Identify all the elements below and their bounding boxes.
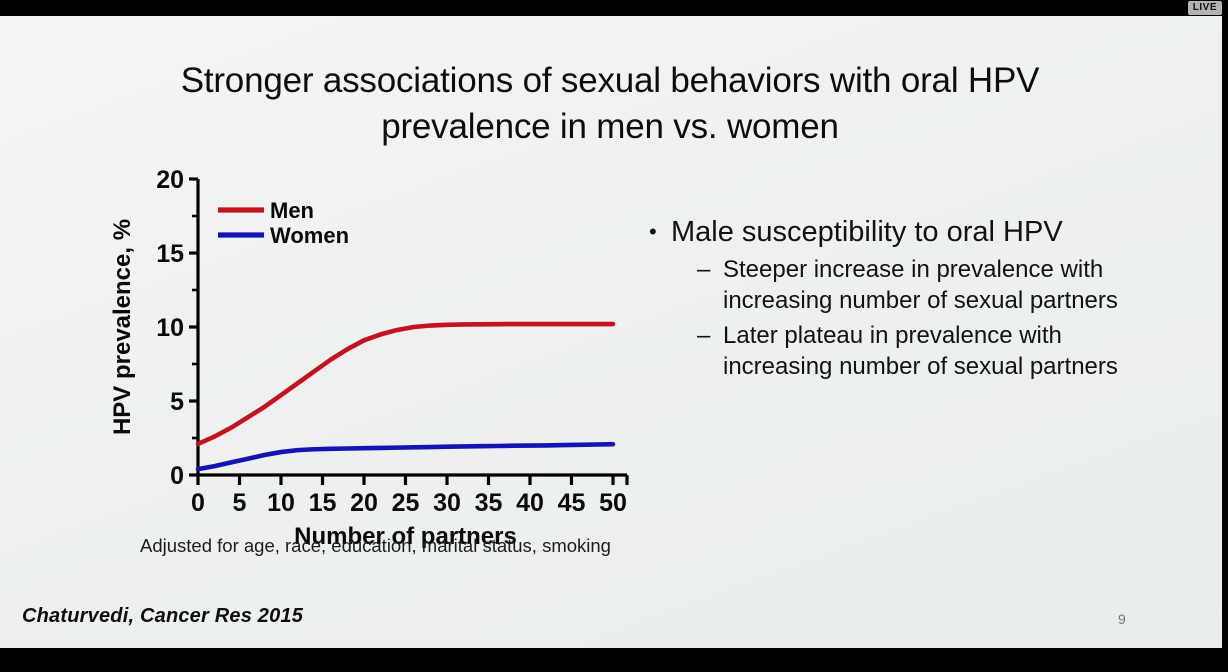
- y-tick-label: 20: [156, 166, 184, 194]
- y-tick-label: 5: [170, 388, 184, 416]
- letterbox-top: [0, 0, 1228, 16]
- chart-canvas: 0510152005101520253035404550Number of pa…: [110, 148, 670, 548]
- video-player-screen: LIVE Stronger associations of sexual beh…: [0, 0, 1228, 672]
- legend-label-men: Men: [270, 198, 314, 223]
- bullet-sub-1-line-1: Steeper increase in prevalence with: [723, 256, 1103, 283]
- x-tick-label: 50: [599, 489, 627, 517]
- page-number: 9: [1118, 611, 1126, 627]
- x-tick-label: 30: [433, 489, 461, 517]
- page-title: Stronger associations of sexual behavior…: [80, 58, 1140, 150]
- x-tick-label: 5: [233, 489, 247, 517]
- x-tick-label: 40: [516, 489, 544, 517]
- bullet-dot-icon: •: [649, 214, 657, 250]
- x-tick-label: 35: [475, 489, 503, 517]
- bullet-sub-2-line-2: increasing number of sexual partners: [723, 351, 1205, 382]
- letterbox-bottom: [0, 648, 1228, 672]
- bullet-dash-icon: –: [697, 320, 710, 351]
- bullet-sub-2-line-1: Later plateau in prevalence with: [723, 322, 1062, 349]
- y-tick-label: 10: [156, 314, 184, 342]
- series-line-women: [198, 444, 613, 469]
- x-tick-label: 20: [350, 489, 378, 517]
- x-tick-label: 15: [309, 489, 337, 517]
- bullet-dash-icon: –: [697, 254, 710, 285]
- y-axis-title: HPV prevalence, %: [110, 219, 136, 435]
- series-line-men: [198, 324, 613, 444]
- letterbox-right: [1222, 0, 1228, 672]
- page-title-line-2: prevalence in men vs. women: [80, 104, 1140, 150]
- legend-label-women: Women: [270, 223, 349, 248]
- bullet-sub-2: – Later plateau in prevalence with incre…: [645, 320, 1205, 382]
- y-tick-label: 15: [156, 240, 184, 268]
- x-tick-label: 0: [191, 489, 205, 517]
- presentation-slide: Stronger associations of sexual behavior…: [0, 16, 1222, 648]
- bullet-sub-1-line-2: increasing number of sexual partners: [723, 285, 1205, 316]
- bullet-sub-1: – Steeper increase in prevalence with in…: [645, 254, 1205, 316]
- live-badge: LIVE: [1188, 1, 1222, 15]
- x-tick-label: 10: [267, 489, 295, 517]
- chart-footnote: Adjusted for age, race, education, marit…: [140, 535, 611, 557]
- bullet-list: • Male susceptibility to oral HPV – Stee…: [645, 214, 1205, 382]
- x-tick-label: 45: [558, 489, 586, 517]
- citation: Chaturvedi, Cancer Res 2015: [22, 605, 303, 628]
- bullet-main-text: Male susceptibility to oral HPV: [671, 216, 1063, 248]
- y-tick-label: 0: [170, 462, 184, 490]
- page-title-line-1: Stronger associations of sexual behavior…: [80, 58, 1140, 104]
- bullet-main: • Male susceptibility to oral HPV: [645, 214, 1205, 250]
- hpv-prevalence-chart: 0510152005101520253035404550Number of pa…: [110, 148, 670, 548]
- x-tick-label: 25: [392, 489, 420, 517]
